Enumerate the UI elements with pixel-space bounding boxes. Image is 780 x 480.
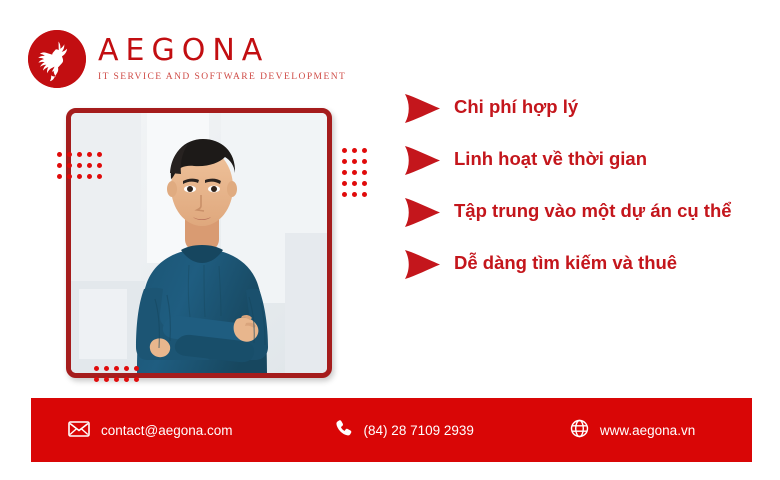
benefits-list: Chi phí hợp lý Linh hoạt về thời gian Tậ… <box>403 92 755 280</box>
arrow-right-icon <box>403 93 443 124</box>
contact-email[interactable]: contact@aegona.com <box>68 421 233 440</box>
decor-dot <box>114 366 119 371</box>
portrait-photo-frame <box>66 108 332 378</box>
decor-dot <box>352 148 357 153</box>
arrow-right-icon <box>403 249 443 280</box>
globe-icon <box>570 419 589 441</box>
decor-dot <box>362 181 367 186</box>
phone-icon <box>334 419 353 441</box>
decor-dot <box>77 163 82 168</box>
decor-dot <box>342 148 347 153</box>
contact-website[interactable]: www.aegona.vn <box>570 419 695 441</box>
decor-dot <box>342 192 347 197</box>
brand-tagline: IT SERVICE AND SOFTWARE DEVELOPMENT <box>98 73 346 83</box>
decor-dots-right <box>342 148 372 203</box>
decor-dot <box>134 366 139 371</box>
decor-dot <box>67 152 72 157</box>
decor-dot <box>124 377 129 382</box>
benefit-item: Tập trung vào một dự án cụ thể <box>403 196 755 228</box>
contact-email-text: contact@aegona.com <box>101 423 233 438</box>
decor-dot <box>57 163 62 168</box>
decor-dot <box>87 152 92 157</box>
decor-dot <box>67 163 72 168</box>
brand-logo[interactable]: AEGONA IT SERVICE AND SOFTWARE DEVELOPME… <box>28 30 346 88</box>
decor-dot <box>97 163 102 168</box>
decor-dot <box>342 181 347 186</box>
phoenix-bird-icon <box>28 30 86 88</box>
decor-dot <box>87 163 92 168</box>
decor-dot <box>352 170 357 175</box>
decor-dot <box>77 174 82 179</box>
decor-dot <box>77 152 82 157</box>
decor-dot <box>342 170 347 175</box>
brand-wordmark: AEGONA IT SERVICE AND SOFTWARE DEVELOPME… <box>98 36 346 83</box>
contact-phone[interactable]: (84) 28 7109 2939 <box>334 419 474 441</box>
benefit-item: Linh hoạt về thời gian <box>403 144 755 176</box>
decor-dot <box>87 174 92 179</box>
decor-dot <box>362 170 367 175</box>
decor-dot <box>94 366 99 371</box>
arrow-right-icon <box>403 197 443 228</box>
portrait-photo <box>71 113 327 373</box>
decor-dot <box>97 174 102 179</box>
decor-dot <box>104 366 109 371</box>
benefit-label: Dễ dàng tìm kiếm và thuê <box>454 248 677 276</box>
decor-dot <box>362 159 367 164</box>
brand-name: AEGONA <box>98 36 346 66</box>
decor-dot <box>124 366 129 371</box>
decor-dot <box>362 148 367 153</box>
decor-dot <box>104 377 109 382</box>
contact-phone-text: (84) 28 7109 2939 <box>364 423 474 438</box>
benefit-label: Chi phí hợp lý <box>454 92 578 120</box>
decor-dot <box>94 377 99 382</box>
decor-dot <box>134 377 139 382</box>
benefit-item: Chi phí hợp lý <box>403 92 755 124</box>
decor-dot <box>352 181 357 186</box>
decor-dot <box>97 152 102 157</box>
contact-footer-bar: contact@aegona.com (84) 28 7109 2939 <box>31 398 752 462</box>
benefit-label: Linh hoạt về thời gian <box>454 144 647 172</box>
decor-dot <box>57 174 62 179</box>
decor-dot <box>352 192 357 197</box>
decor-dot <box>114 377 119 382</box>
decor-dot <box>352 159 357 164</box>
benefit-label: Tập trung vào một dự án cụ thể <box>454 196 754 224</box>
contact-website-text: www.aegona.vn <box>600 423 695 438</box>
poster-canvas: AEGONA IT SERVICE AND SOFTWARE DEVELOPME… <box>0 0 780 480</box>
arrow-right-icon <box>403 145 443 176</box>
envelope-icon <box>68 421 90 440</box>
decor-dots-left <box>57 152 107 185</box>
decor-dot <box>57 152 62 157</box>
decor-dot <box>342 159 347 164</box>
decor-dot <box>67 174 72 179</box>
decor-dot <box>362 192 367 197</box>
decor-dots-bottom <box>94 366 144 388</box>
benefit-item: Dễ dàng tìm kiếm và thuê <box>403 248 755 280</box>
